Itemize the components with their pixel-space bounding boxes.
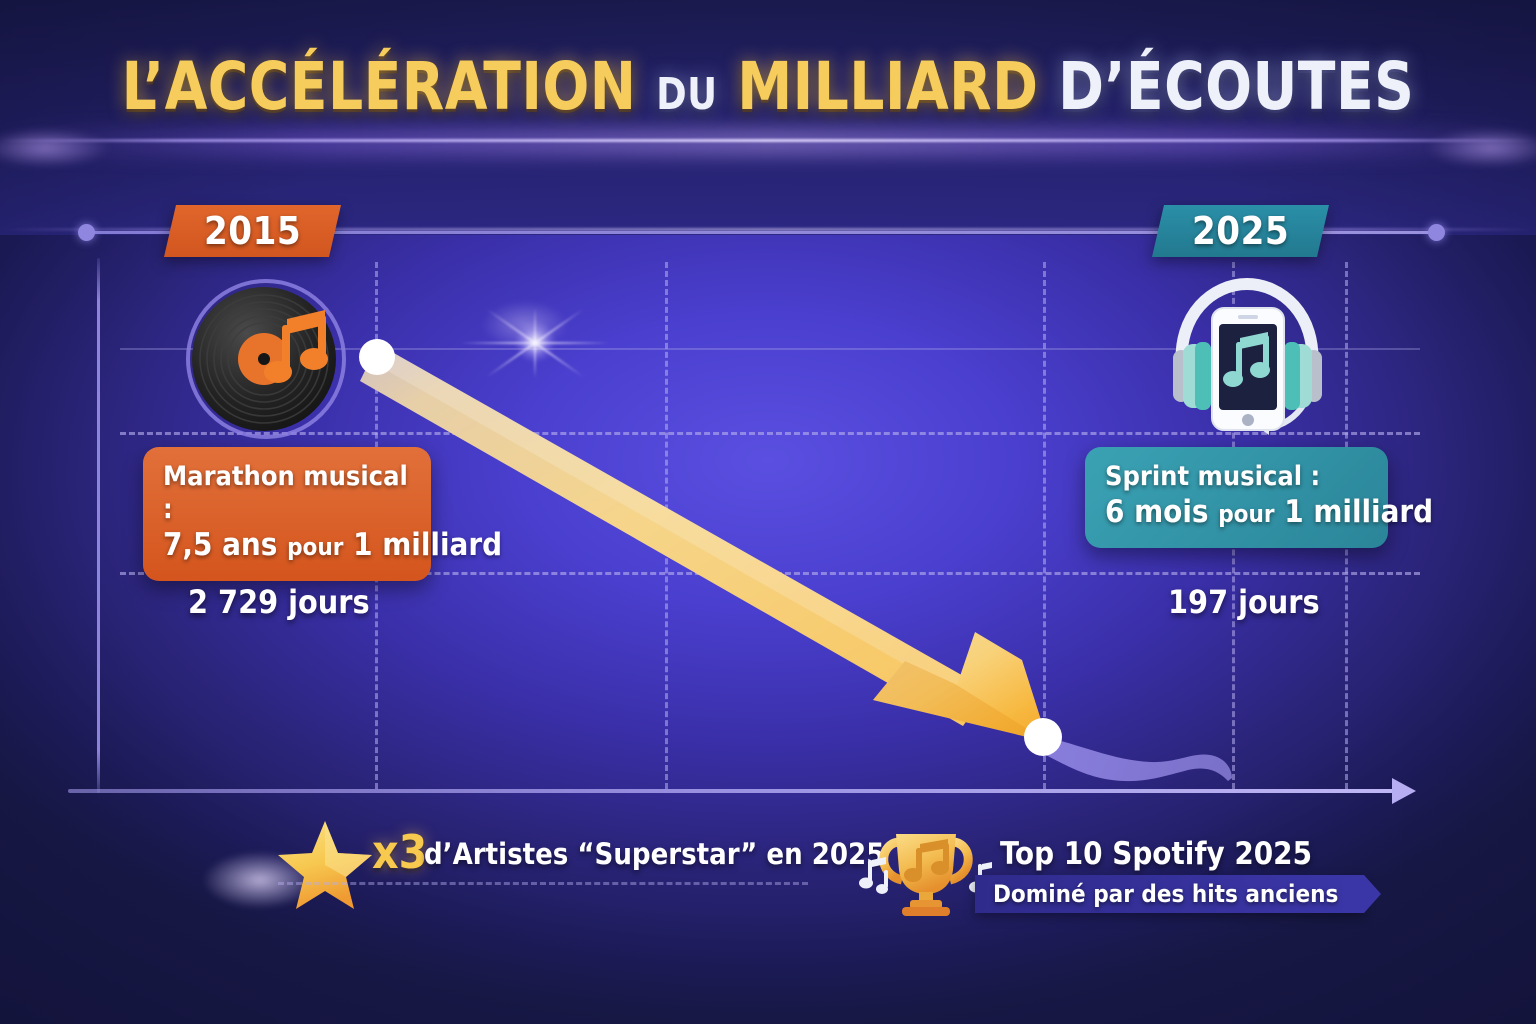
callout-2025-target: 1 milliard [1284, 494, 1433, 530]
callout-2015-value: 7,5 ans [163, 527, 277, 563]
callout-2015-target: 1 milliard [353, 527, 502, 563]
gridline-vertical-2 [665, 262, 668, 789]
callout-2025: Sprint musical : 6 mois pour 1 milliard [1085, 447, 1388, 548]
year-tag-2015[interactable]: 2015 [164, 205, 341, 257]
gridline-vertical-3 [1043, 262, 1046, 789]
days-value-2015: 2 729 jours [188, 583, 370, 621]
infographic-canvas: L’ACCÉLÉRATION DU MILLIARD D’ÉCOUTES [0, 0, 1536, 1024]
year-tag-2025[interactable]: 2025 [1152, 205, 1329, 257]
title-part-ecoutes: D’ÉCOUTES [1058, 48, 1414, 125]
top10-subtitle-ribbon: Dominé par des hits anciens [975, 875, 1364, 913]
title-part-milliard: MILLIARD [737, 48, 1038, 125]
callout-2025-pour: pour [1218, 500, 1274, 528]
smartphone-headphones-icon [1155, 272, 1340, 442]
title-part-acceleration: L’ACCÉLÉRATION [122, 48, 637, 125]
top10-title: Top 10 Spotify 2025 [1000, 836, 1312, 872]
superstar-label: d’Artistes “Superstar” en 2025 [424, 837, 884, 871]
side-glow-left [0, 128, 110, 168]
title-part-du: DU [656, 69, 717, 120]
callout-2015-pour: pour [287, 533, 343, 561]
callout-2015-line1: Marathon musical : [163, 461, 411, 527]
top10-subtitle: Dominé par des hits anciens [993, 880, 1338, 908]
callout-2015: Marathon musical : 7,5 ans pour 1 millia… [143, 447, 431, 581]
vinyl-record-icon [186, 279, 346, 439]
callout-2015-line2: 7,5 ans pour 1 milliard [163, 527, 411, 565]
footer-divider-left [278, 882, 808, 885]
light-streak-upper [0, 139, 1536, 142]
timeline-dot-left [78, 224, 95, 241]
x-axis-arrow-icon [1392, 778, 1416, 804]
callout-2025-line1: Sprint musical : [1105, 461, 1368, 494]
callout-2025-value: 6 mois [1105, 494, 1209, 530]
year-tag-2025-label: 2025 [1192, 209, 1289, 253]
trophy-icon [858, 818, 994, 918]
page-title: L’ACCÉLÉRATION DU MILLIARD D’ÉCOUTES [54, 48, 1482, 125]
timeline-dot-right [1428, 224, 1445, 241]
year-tag-2015-label: 2015 [204, 209, 301, 253]
days-value-2025: 197 jours [1168, 583, 1320, 621]
callout-2025-line2: 6 mois pour 1 milliard [1105, 494, 1368, 532]
star-icon [277, 818, 373, 910]
title-glow-band [0, 128, 1536, 156]
side-glow-right [1426, 128, 1536, 168]
multiplier-label: x3 [372, 825, 427, 879]
x-axis [68, 789, 1400, 793]
y-axis [97, 258, 100, 793]
glow-secondary [480, 300, 570, 350]
